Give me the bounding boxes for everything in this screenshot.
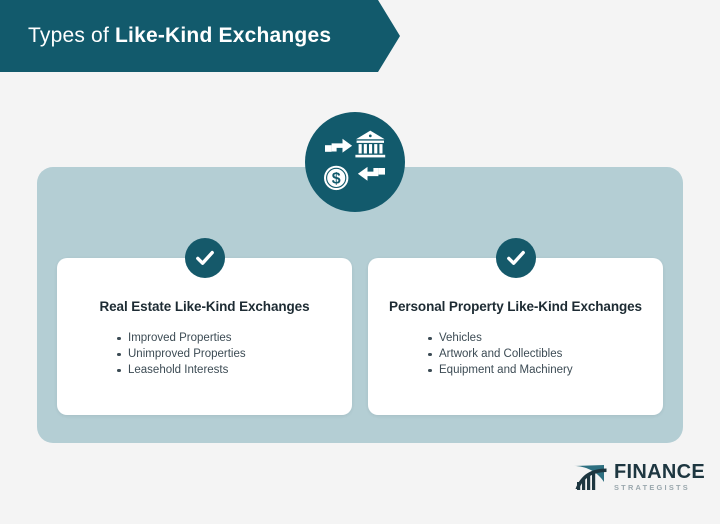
dollar-coin-icon: $	[324, 166, 348, 190]
arrow-right-icon	[325, 139, 352, 153]
list-item: Unimproved Properties	[117, 346, 336, 362]
svg-text:$: $	[332, 171, 341, 188]
logo-subtitle: STRATEGISTS	[614, 484, 705, 491]
bank-building-icon	[355, 131, 385, 158]
logo-name: FINANCE	[614, 462, 705, 482]
title-banner: Types of Like-Kind Exchanges	[0, 0, 400, 72]
list-item: Artwork and Collectibles	[428, 346, 647, 362]
list-item: Vehicles	[428, 330, 647, 346]
logo-wordmark: FINANCE STRATEGISTS	[614, 462, 705, 491]
page-title-bold: Like-Kind Exchanges	[115, 24, 331, 47]
card-bullet-list: Vehicles Artwork and Collectibles Equipm…	[384, 330, 647, 378]
card-group: Real Estate Like-Kind Exchanges Improved…	[57, 258, 663, 415]
brand-logo: FINANCE STRATEGISTS	[573, 462, 705, 492]
page-title: Types of Like-Kind Exchanges	[28, 24, 331, 48]
finance-strategists-logo-mark	[573, 462, 609, 492]
infographic-root: Types of Like-Kind Exchanges	[0, 0, 720, 524]
check-circle-icon	[185, 238, 225, 278]
card-title: Personal Property Like-Kind Exchanges	[384, 298, 647, 316]
card-title: Real Estate Like-Kind Exchanges	[73, 298, 336, 316]
card-bullet-list: Improved Properties Unimproved Propertie…	[73, 330, 336, 378]
check-circle-icon	[496, 238, 536, 278]
list-item: Improved Properties	[117, 330, 336, 346]
list-item: Leasehold Interests	[117, 362, 336, 378]
card-real-estate: Real Estate Like-Kind Exchanges Improved…	[57, 258, 352, 415]
arrow-left-icon	[358, 167, 385, 181]
list-item: Equipment and Machinery	[428, 362, 647, 378]
card-personal-property: Personal Property Like-Kind Exchanges Ve…	[368, 258, 663, 415]
exchange-property-money-icon: $	[305, 112, 405, 212]
page-title-regular: Types of	[28, 24, 115, 47]
